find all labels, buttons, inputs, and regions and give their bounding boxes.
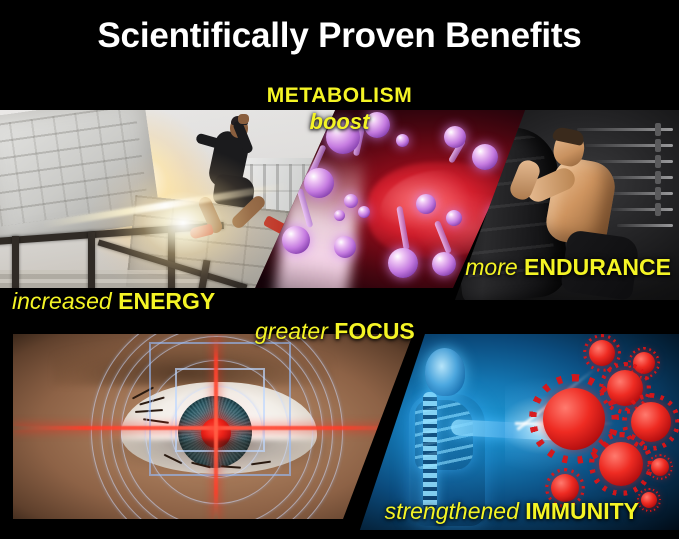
virus-spikes xyxy=(637,488,660,511)
molecule-node xyxy=(446,210,462,226)
molecule-node xyxy=(282,226,310,254)
caption-endurance: more ENDURANCE xyxy=(465,254,671,281)
molecule-node xyxy=(304,168,334,198)
panel-focus xyxy=(13,334,413,519)
caption-focus-emphasis: FOCUS xyxy=(334,318,415,344)
caption-immunity: strengthened IMMUNITY xyxy=(385,498,639,525)
laser-vertical xyxy=(214,334,218,519)
page-title: Scientifically Proven Benefits xyxy=(0,15,679,57)
laser-horizontal xyxy=(13,426,413,430)
molecule-node xyxy=(472,144,498,170)
caption-energy-lead: increased xyxy=(12,288,118,314)
handrail-3 xyxy=(88,232,95,288)
caption-immunity-lead: strengthened xyxy=(385,498,526,524)
molecule-node xyxy=(432,252,456,276)
virus-particle xyxy=(641,492,657,508)
virus-spikes xyxy=(647,454,673,480)
xray-skull xyxy=(425,348,465,396)
caption-immunity-emphasis: IMMUNITY xyxy=(525,498,639,524)
targeting-bracket xyxy=(175,368,265,452)
virus-particle xyxy=(543,388,605,450)
molecule-node xyxy=(396,134,409,147)
molecule-node xyxy=(416,194,436,214)
molecule-node xyxy=(334,236,356,258)
athlete-back-shoe xyxy=(189,223,214,239)
xray-spine xyxy=(423,392,437,510)
caption-endurance-lead: more xyxy=(465,254,524,280)
caption-focus-lead: greater xyxy=(255,318,334,344)
virus-particle xyxy=(599,442,643,486)
virus-spikes xyxy=(589,432,652,495)
caption-endurance-emphasis: ENDURANCE xyxy=(524,254,671,280)
molecule-node xyxy=(334,210,345,221)
caption-energy-emphasis: ENERGY xyxy=(118,288,215,314)
handrail-2 xyxy=(12,236,19,288)
molecule-node xyxy=(388,248,418,278)
focus-artwork xyxy=(13,334,413,519)
caption-metabolism-sub: boost xyxy=(0,108,679,135)
molecule-node xyxy=(358,206,370,218)
virus-particle xyxy=(651,458,669,476)
benefits-infographic: Scientifically Proven Benefits xyxy=(0,0,679,539)
caption-metabolism-title: METABOLISM xyxy=(0,82,679,109)
caption-focus: greater FOCUS xyxy=(255,318,415,345)
caption-energy: increased ENERGY xyxy=(12,288,215,315)
molecule-node xyxy=(344,194,358,208)
virus-particle xyxy=(589,340,615,366)
